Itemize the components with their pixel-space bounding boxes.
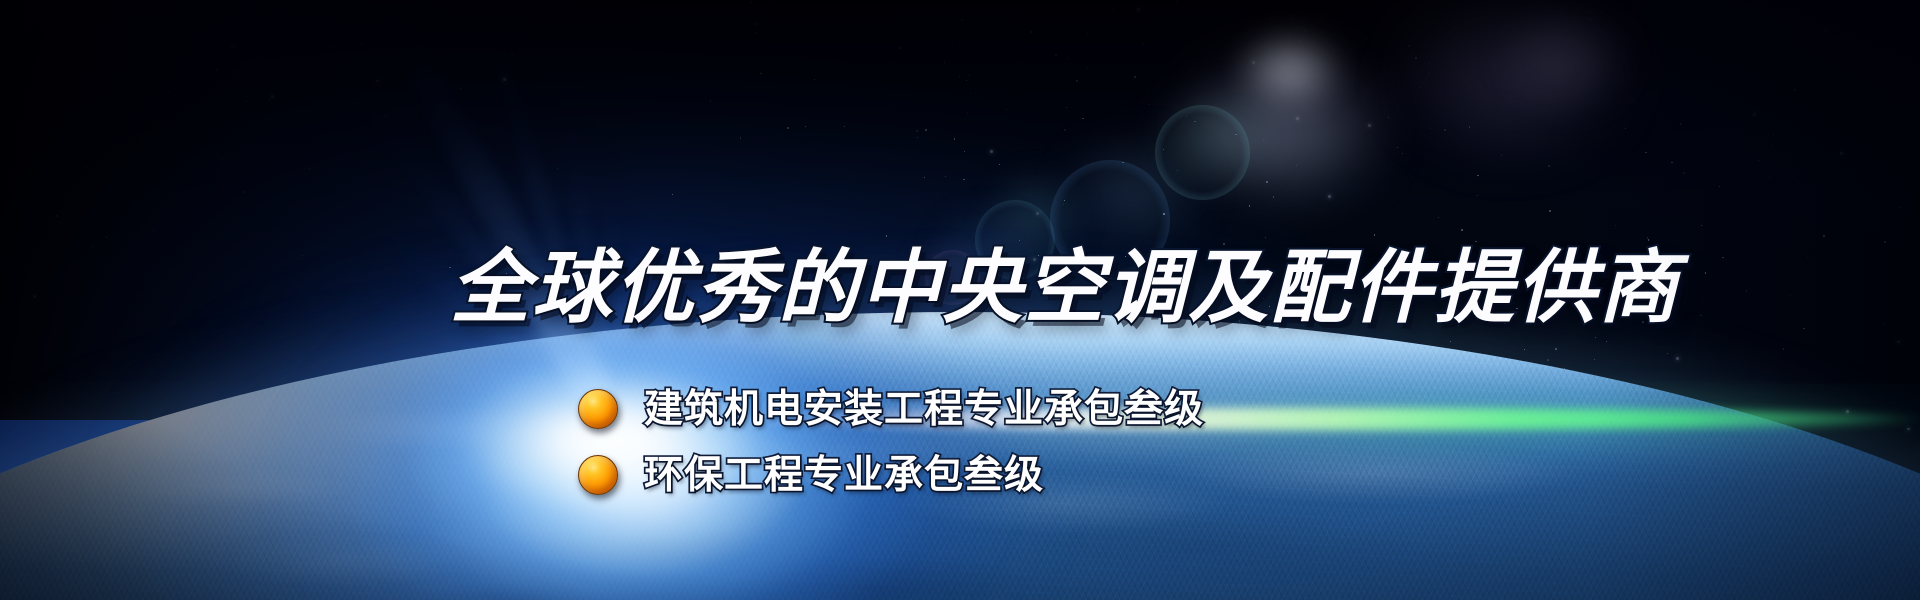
vignette-overlay — [0, 0, 1920, 600]
hero-banner: 全球优秀的中央空调及配件提供商 建筑机电安装工程专业承包叁级 环保工程专业承包叁… — [0, 0, 1920, 600]
